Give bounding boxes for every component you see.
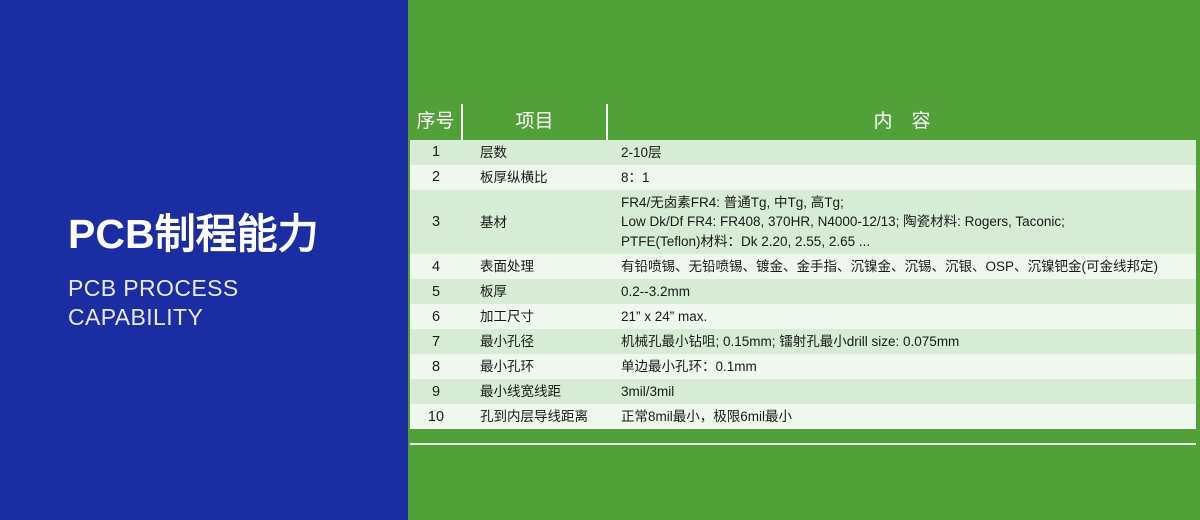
cell-content: 单边最小孔环：0.1mm bbox=[607, 354, 1196, 379]
column-header-content: 内 容 bbox=[607, 104, 1196, 140]
cell-no: 7 bbox=[410, 329, 462, 354]
cell-item: 板厚纵横比 bbox=[462, 165, 607, 190]
left-title-panel: PCB制程能力 PCB PROCESS CAPABILITY bbox=[0, 0, 408, 520]
cell-content-line: 8：1 bbox=[621, 168, 1192, 187]
table-row: 9最小线宽线距3mil/3mil bbox=[410, 379, 1196, 404]
spec-table: 序号 项目 内 容 1层数2-10层2板厚纵横比8：13基材FR4/无卤素FR4… bbox=[410, 104, 1196, 429]
cell-content-line: 正常8mil最小，极限6mil最小 bbox=[621, 407, 1192, 426]
cell-content-line: FR4/无卤素FR4: 普通Tg, 中Tg, 高Tg; bbox=[621, 193, 1192, 212]
cell-no: 2 bbox=[410, 165, 462, 190]
cell-item: 最小孔环 bbox=[462, 354, 607, 379]
table-body: 1层数2-10层2板厚纵横比8：13基材FR4/无卤素FR4: 普通Tg, 中T… bbox=[410, 140, 1196, 429]
cell-content-line: 机械孔最小钻咀; 0.15mm; 镭射孔最小drill size: 0.075m… bbox=[621, 332, 1192, 351]
cell-no: 1 bbox=[410, 140, 462, 165]
page-title: PCB制程能力 bbox=[68, 212, 398, 256]
cell-content: FR4/无卤素FR4: 普通Tg, 中Tg, 高Tg;Low Dk/Df FR4… bbox=[607, 190, 1196, 254]
table-row: 1层数2-10层 bbox=[410, 140, 1196, 165]
title-block: PCB制程能力 PCB PROCESS CAPABILITY bbox=[68, 212, 398, 332]
slide-root: PCB制程能力 PCB PROCESS CAPABILITY 序号 项目 内 容… bbox=[0, 0, 1200, 520]
column-header-item: 项目 bbox=[462, 104, 607, 140]
table-row: 2板厚纵横比8：1 bbox=[410, 165, 1196, 190]
cell-item: 孔到内层导线距离 bbox=[462, 404, 607, 429]
cell-no: 10 bbox=[410, 404, 462, 429]
cell-content: 0.2--3.2mm bbox=[607, 279, 1196, 304]
page-subtitle-line1: PCB PROCESS bbox=[68, 274, 398, 303]
table-row: 3基材FR4/无卤素FR4: 普通Tg, 中Tg, 高Tg;Low Dk/Df … bbox=[410, 190, 1196, 254]
table-row: 10孔到内层导线距离正常8mil最小，极限6mil最小 bbox=[410, 404, 1196, 429]
cell-content: 8：1 bbox=[607, 165, 1196, 190]
column-header-no: 序号 bbox=[410, 104, 462, 140]
cell-no: 9 bbox=[410, 379, 462, 404]
cell-item: 最小孔径 bbox=[462, 329, 607, 354]
cell-item: 表面处理 bbox=[462, 254, 607, 279]
cell-content-line: 3mil/3mil bbox=[621, 382, 1192, 401]
cell-no: 8 bbox=[410, 354, 462, 379]
cell-content-line: 2-10层 bbox=[621, 143, 1192, 162]
cell-item: 层数 bbox=[462, 140, 607, 165]
cell-content: 21” x 24” max. bbox=[607, 304, 1196, 329]
page-subtitle: PCB PROCESS CAPABILITY bbox=[68, 274, 398, 332]
cell-content-line: 单边最小孔环：0.1mm bbox=[621, 357, 1192, 376]
cell-content: 机械孔最小钻咀; 0.15mm; 镭射孔最小drill size: 0.075m… bbox=[607, 329, 1196, 354]
table-header: 序号 项目 内 容 bbox=[410, 104, 1196, 140]
table-row: 5板厚0.2--3.2mm bbox=[410, 279, 1196, 304]
cell-no: 6 bbox=[410, 304, 462, 329]
table-row: 6加工尺寸21” x 24” max. bbox=[410, 304, 1196, 329]
table-bottom-rule bbox=[410, 443, 1196, 445]
cell-content-line: 0.2--3.2mm bbox=[621, 282, 1192, 301]
cell-no: 3 bbox=[410, 190, 462, 254]
cell-item: 板厚 bbox=[462, 279, 607, 304]
cell-item: 最小线宽线距 bbox=[462, 379, 607, 404]
spec-table-wrap: 序号 项目 内 容 1层数2-10层2板厚纵横比8：13基材FR4/无卤素FR4… bbox=[410, 104, 1196, 445]
cell-content: 2-10层 bbox=[607, 140, 1196, 165]
cell-content-line: 21” x 24” max. bbox=[621, 307, 1192, 326]
cell-content-line: PTFE(Teflon)材料：Dk 2.20, 2.55, 2.65 ... bbox=[621, 232, 1192, 251]
cell-content-line: Low Dk/Df FR4: FR408, 370HR, N4000-12/13… bbox=[621, 212, 1192, 231]
table-row: 4表面处理有铅喷锡、无铅喷锡、镀金、金手指、沉镍金、沉锡、沉银、OSP、沉镍钯金… bbox=[410, 254, 1196, 279]
table-row: 7最小孔径机械孔最小钻咀; 0.15mm; 镭射孔最小drill size: 0… bbox=[410, 329, 1196, 354]
cell-no: 4 bbox=[410, 254, 462, 279]
cell-content-line: 有铅喷锡、无铅喷锡、镀金、金手指、沉镍金、沉锡、沉银、OSP、沉镍钯金(可金线邦… bbox=[621, 257, 1192, 276]
cell-item: 加工尺寸 bbox=[462, 304, 607, 329]
cell-item: 基材 bbox=[462, 190, 607, 254]
cell-content: 有铅喷锡、无铅喷锡、镀金、金手指、沉镍金、沉锡、沉银、OSP、沉镍钯金(可金线邦… bbox=[607, 254, 1196, 279]
page-subtitle-line2: CAPABILITY bbox=[68, 303, 398, 332]
table-row: 8最小孔环单边最小孔环：0.1mm bbox=[410, 354, 1196, 379]
cell-content: 3mil/3mil bbox=[607, 379, 1196, 404]
table-header-row: 序号 项目 内 容 bbox=[410, 104, 1196, 140]
cell-no: 5 bbox=[410, 279, 462, 304]
cell-content: 正常8mil最小，极限6mil最小 bbox=[607, 404, 1196, 429]
